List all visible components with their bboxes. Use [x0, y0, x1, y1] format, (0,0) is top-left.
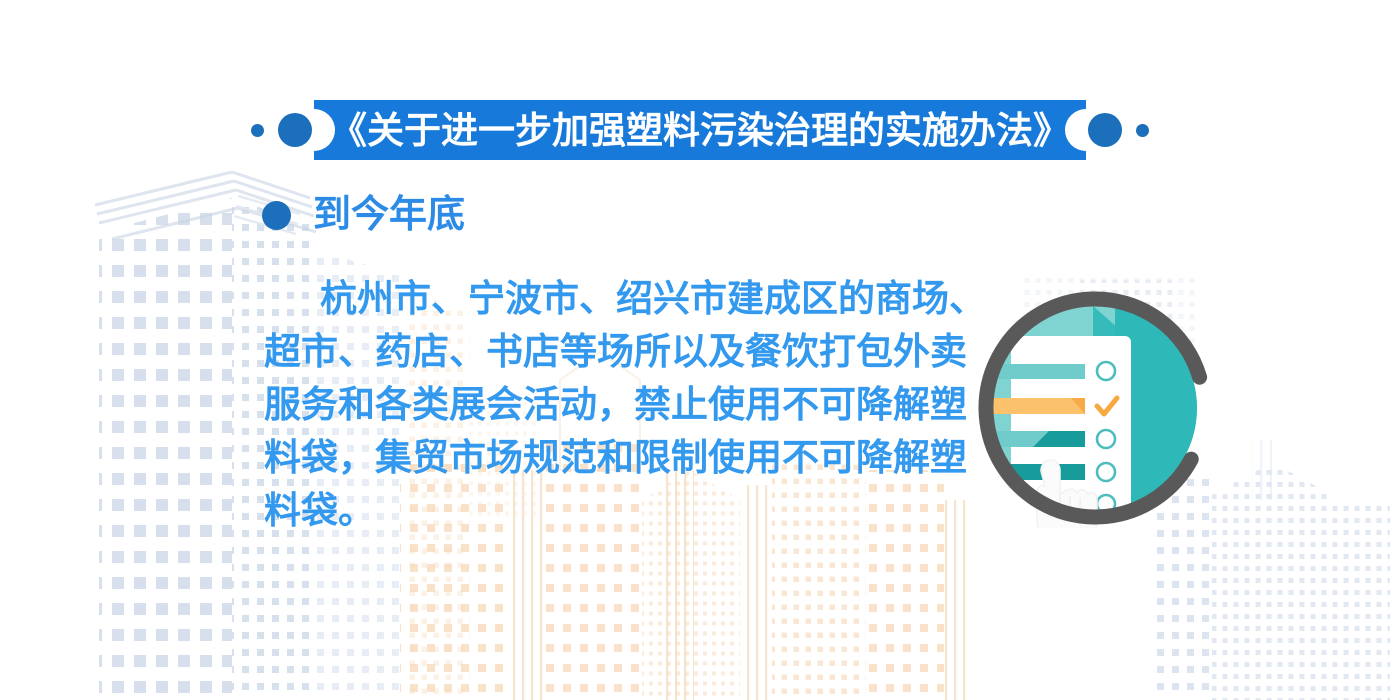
- body-paragraph: 杭州市、宁波市、绍兴市建成区的商场、 超市、药店、书店等场所以及餐饮打包外卖 服…: [264, 272, 976, 537]
- filled-circle-bullet-icon: [262, 201, 291, 230]
- body-line-2: 超市、药店、书店等场所以及餐饮打包外卖: [264, 325, 976, 378]
- subtitle-text: 到今年底: [313, 196, 465, 234]
- infographic-slide: 《关于进一步加强塑料污染治理的实施办法》 到今年底 杭州市、宁波市、绍兴市建成区…: [0, 0, 1400, 700]
- subtitle-row: 到今年底: [262, 196, 465, 234]
- title-banner: 《关于进一步加强塑料污染治理的实施办法》: [314, 100, 1086, 160]
- banner-left-cap-dot-icon: [278, 113, 312, 147]
- banner-right-cap-dot-icon: [1088, 113, 1122, 147]
- checklist-in-circle-illustration: [975, 288, 1215, 528]
- body-line-3: 服务和各类展会活动，禁止使用不可降解塑: [264, 378, 976, 431]
- body-line-1: 杭州市、宁波市、绍兴市建成区的商场、: [264, 272, 976, 325]
- banner-right-outer-dot-icon: [1136, 124, 1149, 137]
- banner-left-outer-dot-icon: [251, 124, 264, 137]
- body-line-5: 料袋。: [264, 484, 976, 537]
- body-line-4: 料袋，集贸市场规范和限制使用不可降解塑: [264, 431, 976, 484]
- title-banner-row: 《关于进一步加强塑料污染治理的实施办法》: [0, 98, 1400, 162]
- page-title: 《关于进一步加强塑料污染治理的实施办法》: [330, 112, 1070, 149]
